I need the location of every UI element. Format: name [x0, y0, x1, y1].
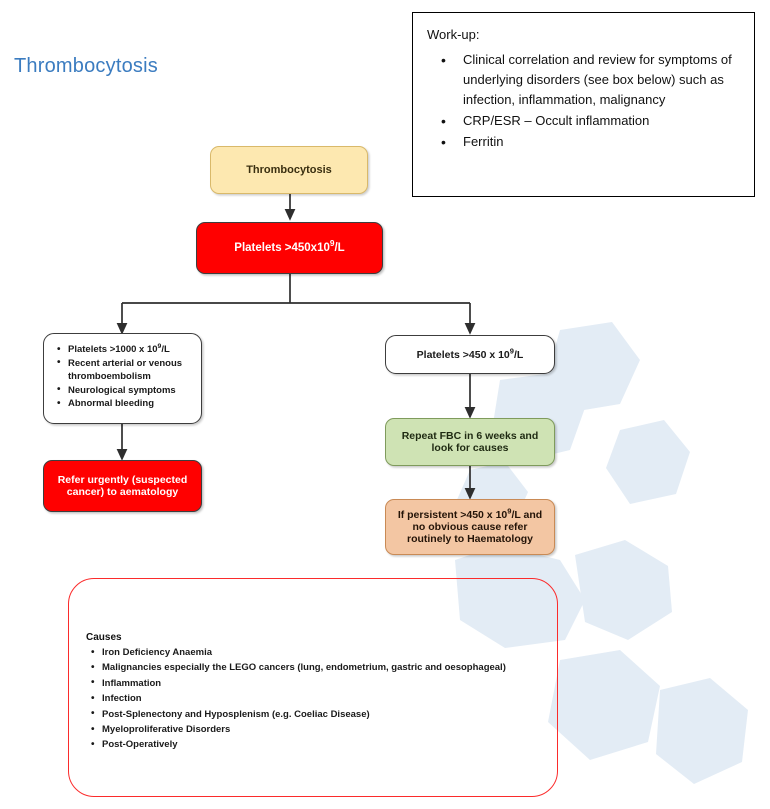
node-platelet-threshold[interactable]: Platelets >450x109/L	[196, 222, 383, 274]
criteria-item: Recent arterial or venous thromboembolis…	[68, 357, 191, 384]
workup-heading: Work-up:	[427, 27, 742, 42]
node-routine-criteria[interactable]: Platelets >450 x 109/L	[385, 335, 555, 374]
node-refer-urgently[interactable]: Refer urgently (suspected cancer) to aem…	[43, 460, 202, 512]
node-label: Platelets >450x109/L	[197, 242, 382, 254]
node-label: Refer urgently (suspected cancer) to aem…	[44, 474, 201, 498]
node-persistent-referral[interactable]: If persistent >450 x 109/L and no obviou…	[385, 499, 555, 555]
causes-item: Infection	[102, 691, 541, 706]
causes-item: Post-Splenectony and Hyposplenism (e.g. …	[102, 707, 541, 722]
criteria-list: Platelets >1000 x 109/L Recent arterial …	[52, 343, 191, 411]
node-thrombocytosis-start[interactable]: Thrombocytosis	[210, 146, 368, 194]
causes-box: Causes Iron Deficiency Anaemia Malignanc…	[68, 578, 558, 797]
workup-item: CRP/ESR – Occult inflammation	[463, 111, 742, 131]
criteria-item: Abnormal bleeding	[68, 397, 191, 411]
node-repeat-fbc[interactable]: Repeat FBC in 6 weeks and look for cause…	[385, 418, 555, 466]
page-title: Thrombocytosis	[14, 55, 158, 78]
workup-list: Clinical correlation and review for symp…	[427, 50, 742, 152]
causes-item: Inflammation	[102, 676, 541, 691]
causes-item: Malignancies especially the LEGO cancers…	[102, 660, 541, 675]
causes-item: Iron Deficiency Anaemia	[102, 645, 541, 660]
node-label: Platelets >450 x 109/L	[386, 349, 554, 361]
workup-item: Ferritin	[463, 132, 742, 152]
causes-list: Iron Deficiency Anaemia Malignancies esp…	[86, 645, 541, 753]
node-label: Repeat FBC in 6 weeks and look for cause…	[386, 430, 554, 454]
causes-content: Causes Iron Deficiency Anaemia Malignanc…	[86, 632, 541, 753]
causes-item: Post-Operatively	[102, 737, 541, 752]
node-urgent-referral-criteria[interactable]: Platelets >1000 x 109/L Recent arterial …	[43, 333, 202, 424]
workup-item: Clinical correlation and review for symp…	[463, 50, 742, 110]
node-label: Thrombocytosis	[211, 164, 367, 176]
criteria-item: Neurological symptoms	[68, 384, 191, 398]
criteria-item: Platelets >1000 x 109/L	[68, 343, 191, 357]
causes-heading: Causes	[86, 632, 541, 643]
node-label: If persistent >450 x 109/L and no obviou…	[386, 509, 554, 545]
workup-box: Work-up: Clinical correlation and review…	[412, 12, 755, 197]
causes-item: Myeloproliferative Disorders	[102, 722, 541, 737]
